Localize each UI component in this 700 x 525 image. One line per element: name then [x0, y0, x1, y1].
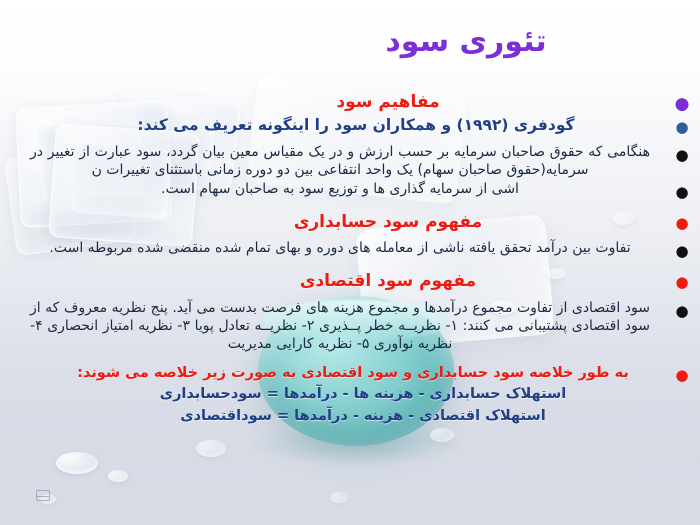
bullet-marker-icon: ● [674, 300, 690, 321]
bullet-line-accounting-profit-body: ● تفاوت بین درآمد تحقق یافته ناشی از معا… [12, 240, 690, 261]
bullet-line-concepts-heading: ● مفاهیم سود [12, 92, 690, 115]
bullet-line-godfrey-intro: ● گودفری (۱۹۹۲) و همکاران سود را اینگونه… [12, 116, 690, 137]
bullet-marker-icon: ● [674, 240, 690, 261]
slide-title: تئوری سود [256, 24, 676, 59]
godfrey-intro-text: گودفری (۱۹۹۲) و همکاران سود را اینگونه ت… [12, 116, 674, 136]
presentation-slide: تئوری سود ● مفاهیم سود ● گودفری (۱۹۹۲) و… [0, 0, 700, 525]
bullet-line-godfrey-definition: ● هنگامی که حقوق صاحبان سرمایه بر حسب ار… [12, 144, 690, 180]
bullet-marker-icon: ● [674, 92, 690, 115]
formula-accounting-text: استهلاک حسابداری - هزینه ها - درآمدها = … [12, 385, 674, 404]
bullet-line-economic-profit-heading: ● مفهوم سود اقتصادی [12, 271, 690, 293]
formula-economic-text: استهلاک اقتصادی - هزینه - درآمدها = سودا… [12, 407, 674, 426]
bullet-marker-icon: ● [674, 144, 690, 165]
bullet-line-summary-heading: ● به طور خلاصه سود حسابداری و سود اقتصاد… [12, 364, 690, 385]
godfrey-definition-text: هنگامی که حقوق صاحبان سرمایه بر حسب ارزش… [12, 144, 674, 180]
bullet-marker-icon: ● [674, 364, 690, 385]
concepts-heading-text: مفاهیم سود [12, 92, 674, 114]
bullet-line-formula-economic: ● استهلاک اقتصادی - هزینه - درآمدها = سو… [12, 407, 690, 428]
bullet-line-godfrey-definition-cont: ● اشی از سرمایه گذاری ها و توزیع سود به … [12, 181, 690, 202]
bullet-list: ● مفاهیم سود ● گودفری (۱۹۹۲) و همکاران س… [12, 92, 690, 429]
economic-profit-heading-text: مفهوم سود اقتصادی [12, 271, 674, 293]
accounting-profit-heading-text: مفهوم سود حسابداری [12, 212, 674, 234]
bullet-line-accounting-profit-heading: ● مفهوم سود حسابداری [12, 212, 690, 234]
page-corner-mark-icon [36, 490, 50, 501]
bullet-marker-icon: ● [674, 271, 690, 292]
bullet-line-economic-profit-body: ● سود اقتصادی از تفاوت مجموع درآمدها و م… [12, 300, 690, 354]
bullet-line-formula-accounting: ● استهلاک حسابداری - هزینه ها - درآمدها … [12, 385, 690, 406]
bullet-marker-icon: ● [674, 212, 690, 233]
economic-profit-body-text: سود اقتصادی از تفاوت مجموع درآمدها و مجم… [12, 300, 674, 354]
bullet-marker-icon: ● [674, 181, 690, 202]
slide-content: تئوری سود ● مفاهیم سود ● گودفری (۱۹۹۲) و… [0, 0, 700, 525]
accounting-profit-body-text: تفاوت بین درآمد تحقق یافته ناشی از معامل… [12, 240, 674, 258]
godfrey-definition-cont-text: اشی از سرمایه گذاری ها و توزیع سود به صا… [12, 181, 674, 199]
summary-heading-text: به طور خلاصه سود حسابداری و سود اقتصادی … [12, 364, 674, 383]
bullet-marker-icon: ● [674, 116, 690, 137]
